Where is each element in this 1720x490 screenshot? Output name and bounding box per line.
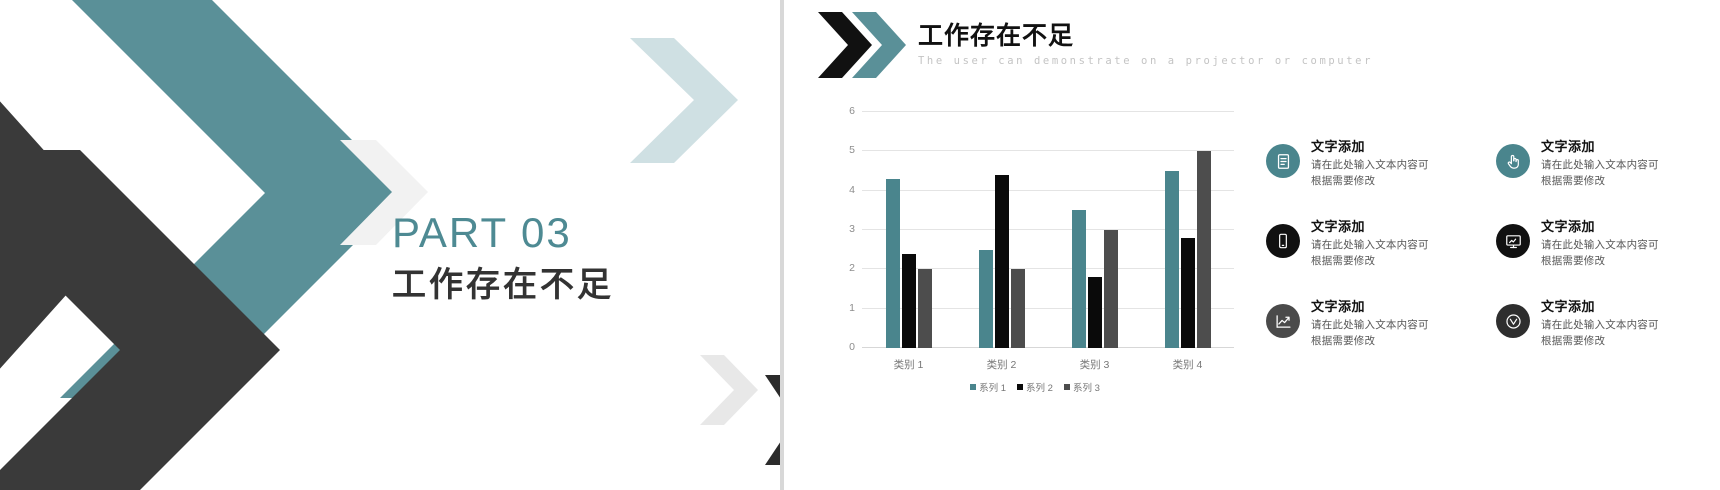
feature-text-block: 文字添加请在此处输入文本内容可根据需要修改 [1311, 300, 1429, 349]
right-content-panel: 工作存在不足 The user can demonstrate on a pro… [784, 0, 1720, 490]
chart-category-group: 类别 1 [886, 112, 932, 348]
chart-bar [902, 254, 916, 348]
chart-legend-label: 系列 2 [1026, 380, 1053, 394]
feature-description: 请在此处输入文本内容可根据需要修改 [1311, 238, 1429, 268]
chart-legend-swatch [1017, 384, 1023, 390]
chart-y-tick-label: 0 [849, 341, 855, 353]
chart-category-label: 类别 3 [1080, 357, 1110, 372]
chart-category-group: 类别 2 [979, 112, 1025, 348]
chart-category-label: 类别 1 [894, 357, 924, 372]
bar-chart: 0123456 类别 1类别 2类别 3类别 4 系列 1系列 2系列 3 [830, 100, 1240, 400]
target-arrow-icon [1496, 304, 1530, 338]
chart-legend-label: 系列 1 [979, 380, 1006, 394]
chart-y-tick-label: 2 [849, 262, 855, 274]
chart-bar [1165, 171, 1179, 348]
header-text-block: 工作存在不足 The user can demonstrate on a pro… [918, 24, 1373, 67]
part-title-label: 工作存在不足 [392, 268, 614, 302]
feature-title: 文字添加 [1311, 300, 1429, 314]
chart-bar [1088, 277, 1102, 348]
feature-title: 文字添加 [1541, 300, 1659, 314]
light-blue-chevron-accent [630, 38, 740, 163]
feature-description: 请在此处输入文本内容可根据需要修改 [1311, 318, 1429, 348]
chart-bar [886, 179, 900, 348]
chart-legend-item: 系列 3 [1064, 380, 1100, 394]
feature-description: 请在此处输入文本内容可根据需要修改 [1541, 158, 1659, 188]
chart-category-label: 类别 2 [987, 357, 1017, 372]
chart-y-tick-label: 6 [849, 105, 855, 117]
feature-title: 文字添加 [1541, 220, 1659, 234]
chart-bar [1072, 210, 1086, 348]
slide-canvas: PART 03 工作存在不足 工作存在不足 The user can demon… [0, 0, 1720, 490]
page-subtitle: The user can demonstrate on a projector … [918, 56, 1373, 67]
chart-y-tick-label: 1 [849, 302, 855, 314]
feature-title: 文字添加 [1541, 140, 1659, 154]
chart-y-tick-label: 3 [849, 223, 855, 235]
page-title: 工作存在不足 [918, 24, 1373, 49]
chart-category-group: 类别 3 [1072, 112, 1118, 348]
feature-text-block: 文字添加请在此处输入文本内容可根据需要修改 [1541, 140, 1659, 189]
feature-item[interactable]: 文字添加请在此处输入文本内容可根据需要修改 [1496, 140, 1706, 220]
feature-icon-grid: 文字添加请在此处输入文本内容可根据需要修改文字添加请在此处输入文本内容可根据需要… [1266, 140, 1706, 380]
dark-chevron-lower [0, 150, 360, 490]
feature-description: 请在此处输入文本内容可根据需要修改 [1311, 158, 1429, 188]
chart-legend-label: 系列 3 [1073, 380, 1100, 394]
chart-y-tick-label: 4 [849, 184, 855, 196]
chart-legend: 系列 1系列 2系列 3 [830, 380, 1240, 394]
feature-item[interactable]: 文字添加请在此处输入文本内容可根据需要修改 [1266, 220, 1476, 300]
chart-legend-swatch [970, 384, 976, 390]
black-chevron-bottom [735, 375, 780, 465]
document-icon [1266, 144, 1300, 178]
feature-item[interactable]: 文字添加请在此处输入文本内容可根据需要修改 [1266, 300, 1476, 380]
feature-description: 请在此处输入文本内容可根据需要修改 [1541, 238, 1659, 268]
mobile-phone-icon [1266, 224, 1300, 258]
chart-bar [1197, 151, 1211, 348]
chart-plot-area: 0123456 类别 1类别 2类别 3类别 4 [862, 112, 1234, 348]
chart-category-label: 类别 4 [1173, 357, 1203, 372]
feature-item[interactable]: 文字添加请在此处输入文本内容可根据需要修改 [1496, 220, 1706, 300]
chart-growth-icon [1266, 304, 1300, 338]
chart-bar [918, 269, 932, 348]
chart-legend-swatch [1064, 384, 1070, 390]
chart-y-tick-label: 5 [849, 144, 855, 156]
feature-item[interactable]: 文字添加请在此处输入文本内容可根据需要修改 [1496, 300, 1706, 380]
chart-bar [1011, 269, 1025, 348]
feature-item[interactable]: 文字添加请在此处输入文本内容可根据需要修改 [1266, 140, 1476, 220]
monitor-icon [1496, 224, 1530, 258]
header-chevron-icons [816, 10, 916, 80]
content-header: 工作存在不足 The user can demonstrate on a pro… [800, 8, 1700, 88]
chart-category-group: 类别 4 [1165, 112, 1211, 348]
part-number-label: PART 03 [392, 212, 614, 254]
feature-title: 文字添加 [1311, 140, 1429, 154]
feature-text-block: 文字添加请在此处输入文本内容可根据需要修改 [1311, 140, 1429, 189]
chart-bar [995, 175, 1009, 348]
chart-legend-item: 系列 2 [1017, 380, 1053, 394]
chart-legend-item: 系列 1 [970, 380, 1006, 394]
chart-bar [979, 250, 993, 348]
chart-bar-groups: 类别 1类别 2类别 3类别 4 [862, 112, 1234, 348]
feature-text-block: 文字添加请在此处输入文本内容可根据需要修改 [1541, 220, 1659, 269]
hand-click-icon [1496, 144, 1530, 178]
chart-bar [1104, 230, 1118, 348]
left-title-panel: PART 03 工作存在不足 [0, 0, 780, 490]
feature-text-block: 文字添加请在此处输入文本内容可根据需要修改 [1311, 220, 1429, 269]
chart-bar [1181, 238, 1195, 348]
feature-text-block: 文字添加请在此处输入文本内容可根据需要修改 [1541, 300, 1659, 349]
part-heading-block: PART 03 工作存在不足 [392, 212, 614, 302]
feature-title: 文字添加 [1311, 220, 1429, 234]
feature-description: 请在此处输入文本内容可根据需要修改 [1541, 318, 1659, 348]
